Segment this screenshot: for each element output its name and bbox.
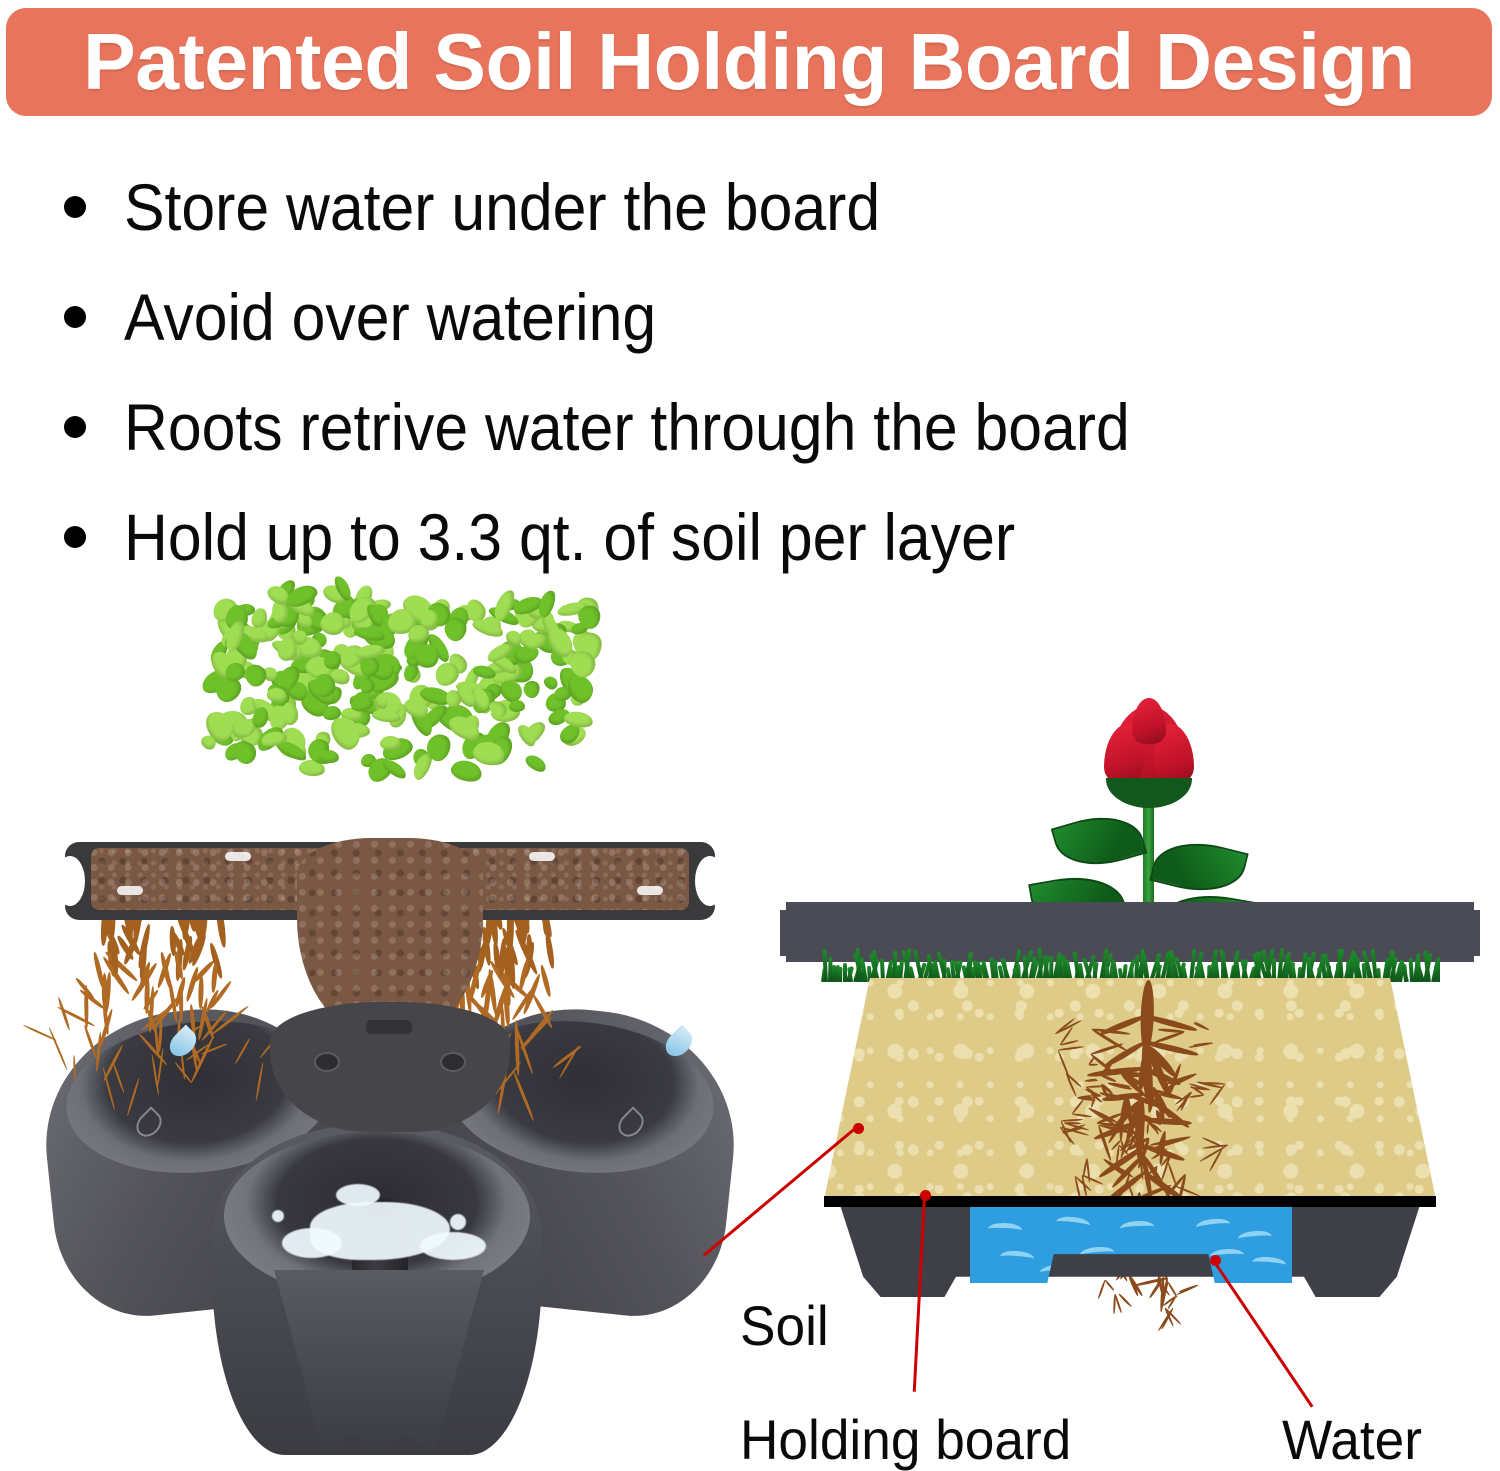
callout-label-water: Water (1282, 1412, 1422, 1468)
root-branch (1097, 1280, 1105, 1299)
water-wave (1238, 1230, 1273, 1246)
rose-sepal (1106, 778, 1192, 808)
grass-layer (820, 948, 1440, 982)
water-splash (450, 1214, 466, 1230)
water-splash (420, 1232, 486, 1260)
water-wave (1120, 1220, 1155, 1235)
root-branch (1104, 1279, 1114, 1291)
holding-board-line (824, 1196, 1436, 1207)
root-branch (1113, 1294, 1116, 1314)
root-strand (539, 964, 552, 997)
water-wave (1195, 1217, 1230, 1234)
list-item: Avoid over watering (50, 262, 1450, 372)
list-item: Hold up to 3.3 qt. of soil per layer (50, 482, 1450, 592)
water-wave (1252, 1256, 1287, 1272)
header-banner: Patented Soil Holding Board Design (6, 8, 1492, 116)
list-item: Store water under the board (50, 152, 1450, 262)
water-splash (336, 1184, 380, 1206)
plant-foliage (190, 580, 590, 870)
rose-leaf (1149, 832, 1248, 902)
root-branch (1118, 1293, 1130, 1305)
leaf (379, 735, 400, 751)
callout-label-holding-board: Holding board (740, 1412, 1071, 1468)
water-splash (272, 1210, 284, 1222)
water-wave (1000, 1250, 1035, 1265)
rose-leaf (1051, 805, 1147, 877)
bullet-dot-icon (64, 306, 86, 328)
stackable-planter-photo (20, 580, 750, 1469)
bullet-text: Avoid over watering (124, 284, 656, 350)
bullet-dot-icon (64, 416, 86, 438)
leaf (524, 752, 549, 775)
water-wave (1055, 1215, 1090, 1232)
bullet-text: Roots retrive water through the board (124, 394, 1130, 460)
root-strand (179, 984, 183, 1022)
root-branch (1058, 1045, 1084, 1050)
list-item: Roots retrive water through the board (50, 372, 1450, 482)
root-branch (1071, 1098, 1084, 1114)
water-wave (988, 1222, 1023, 1236)
grass-blade (822, 949, 828, 982)
bullet-text: Hold up to 3.3 qt. of soil per layer (124, 504, 1015, 570)
feature-bullet-list: Store water under the board Avoid over w… (50, 152, 1450, 592)
root-branch (1072, 1113, 1092, 1118)
page-title: Patented Soil Holding Board Design (83, 22, 1415, 102)
bullet-dot-icon (64, 526, 86, 548)
water-splash (282, 1228, 342, 1258)
leaf (324, 651, 342, 670)
pot-cross-section-diagram (780, 690, 1480, 1469)
root-strand (73, 1055, 76, 1081)
root-branch (1146, 1123, 1148, 1134)
board-center-plate (270, 1002, 510, 1132)
bullet-dot-icon (64, 196, 86, 218)
root-strand (48, 1027, 68, 1071)
bullet-text: Store water under the board (124, 174, 880, 240)
root-strand (198, 975, 204, 1009)
callout-label-soil: Soil (740, 1298, 829, 1354)
rose-petal (1132, 698, 1166, 744)
